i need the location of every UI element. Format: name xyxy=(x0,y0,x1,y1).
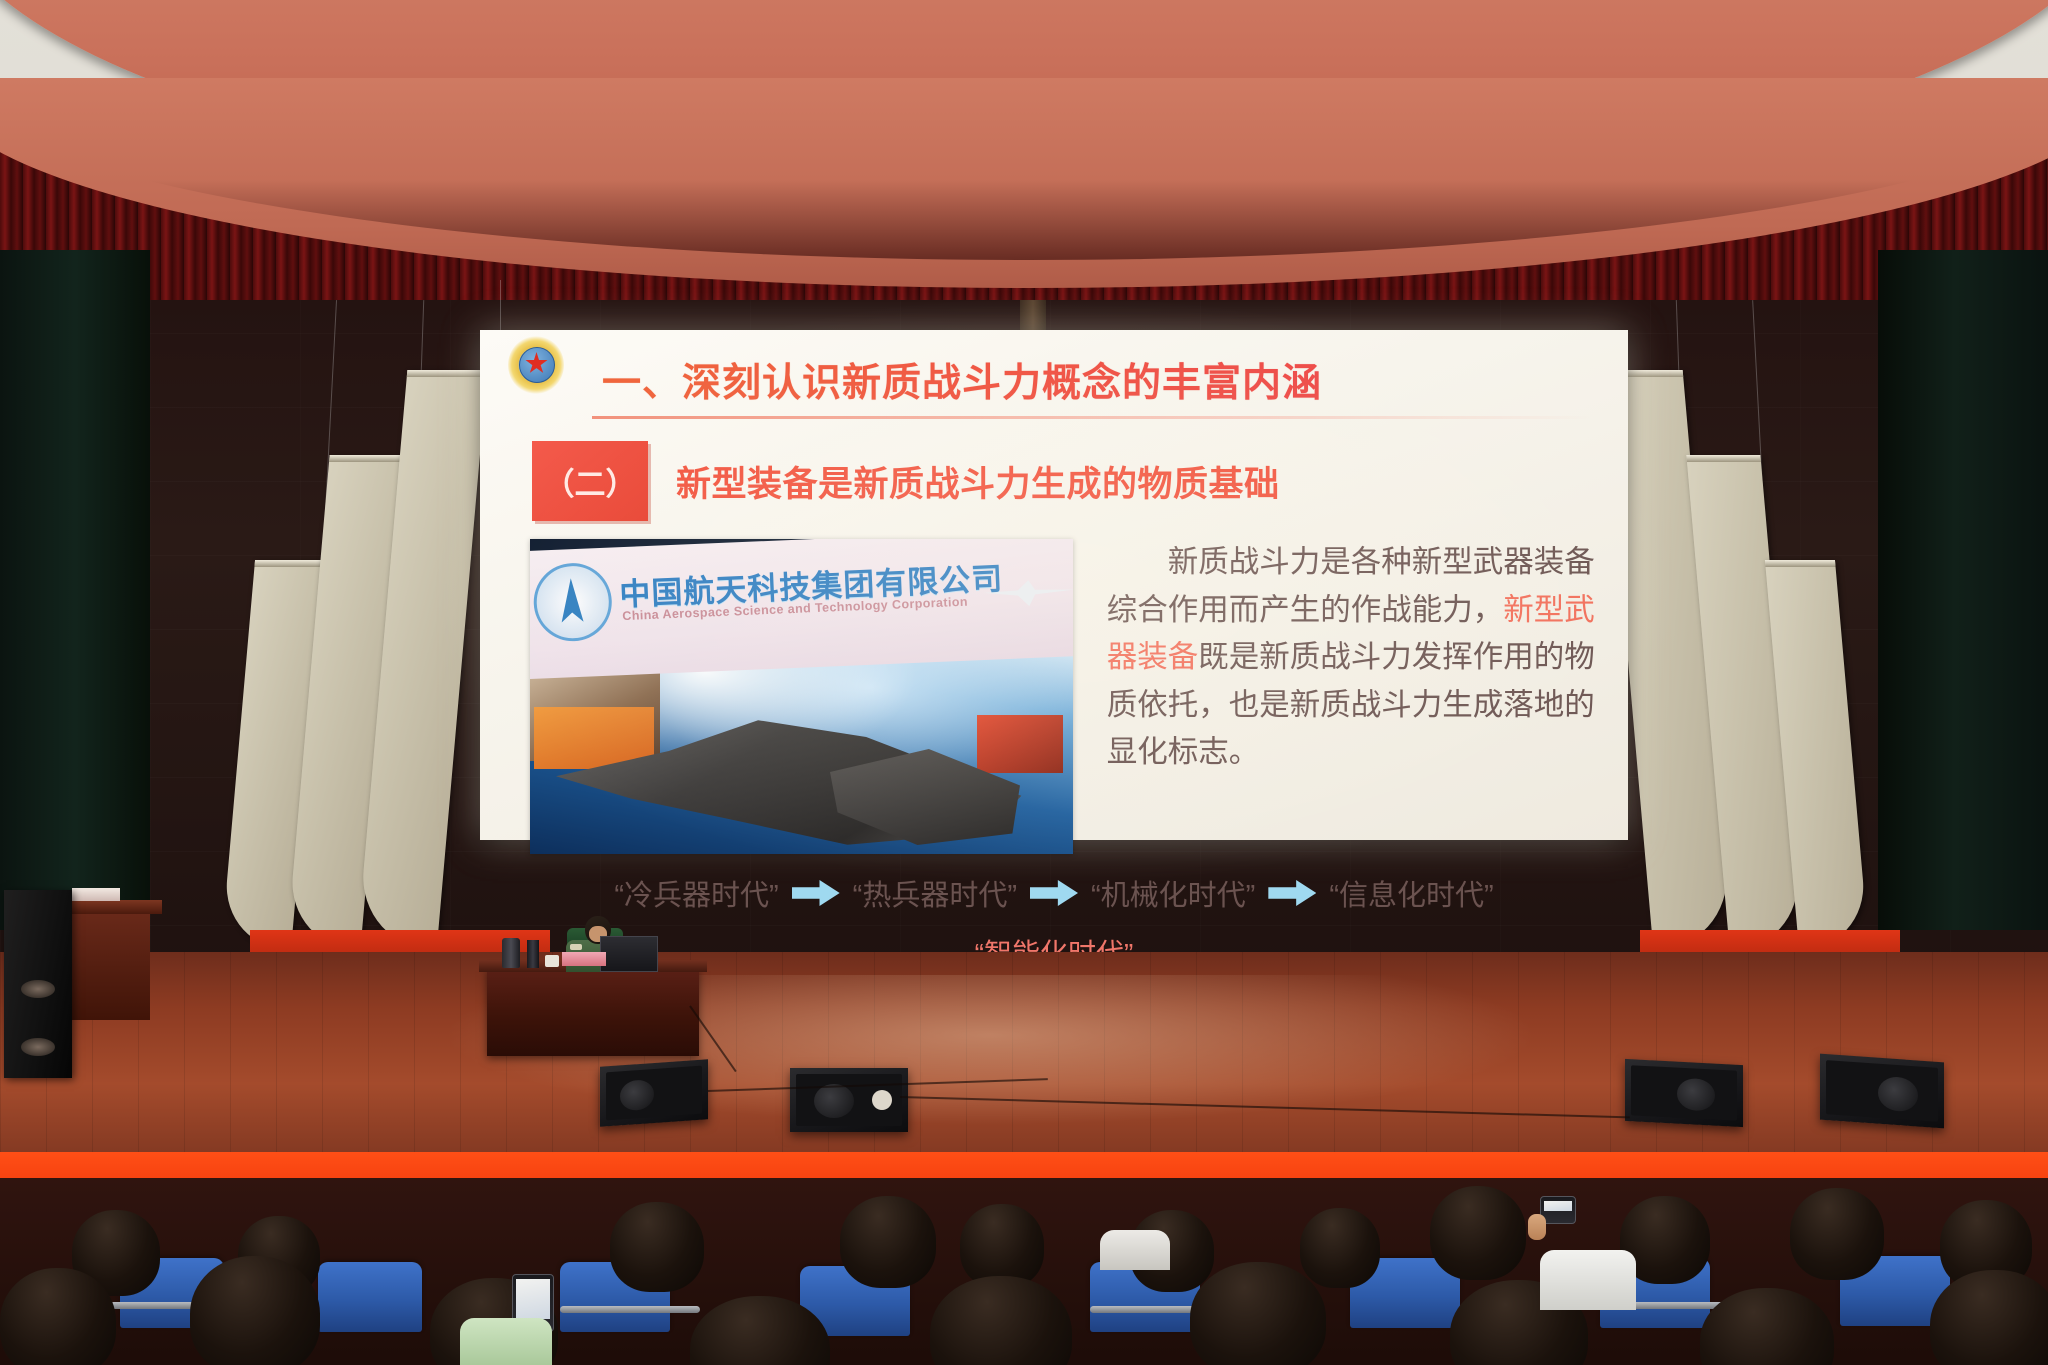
audience-head xyxy=(0,1268,116,1365)
podium-items xyxy=(72,888,120,901)
era-label-3: “信息化时代” xyxy=(1329,872,1493,914)
audience-head xyxy=(840,1196,936,1288)
stage-monitor-speaker xyxy=(600,1059,708,1127)
title-underline xyxy=(592,416,1592,419)
pla-emblem-icon xyxy=(508,336,564,394)
left-stage-wing-curtain xyxy=(0,250,150,930)
arrow-right-icon xyxy=(792,880,840,906)
seat-back-rail xyxy=(560,1306,700,1313)
panel-cap xyxy=(1686,455,1761,462)
theater-seat[interactable] xyxy=(318,1262,422,1332)
audience-head xyxy=(610,1202,704,1292)
section-title: 新型装备是新质战斗力生成的物质基础 xyxy=(676,456,1280,507)
audience-head xyxy=(1430,1186,1526,1280)
uniform-epaulet xyxy=(570,944,582,950)
photo-banner: 中国航天科技集团有限公司 China Aerospace Science and… xyxy=(530,539,1073,680)
era-label-1: “热兵器时代” xyxy=(853,872,1017,914)
presenter-laptop xyxy=(600,936,658,972)
microphone-stand xyxy=(527,940,539,968)
auditorium-scene: 一、深刻认识新质战斗力概念的丰富内涵 （二） 新型装备是新质战斗力生成的物质基础… xyxy=(0,0,2048,1365)
presenter-table xyxy=(487,968,699,1056)
podium xyxy=(60,908,150,1020)
arrow-right-icon xyxy=(1030,880,1078,906)
panel-cap xyxy=(1765,560,1836,567)
era-progression: “冷兵器时代” “热兵器时代” “机械化时代” “信息化时代” xyxy=(506,872,1602,914)
stage-monitor-speaker xyxy=(1820,1054,1944,1129)
audience-shirt xyxy=(460,1318,552,1365)
section-header-row: （二） 新型装备是新质战斗力生成的物质基础 xyxy=(532,441,1602,521)
slide-paragraph: 新质战斗力是各种新型武器装备综合作用而产生的作战能力，新型武器装备既是新质战斗力… xyxy=(1107,539,1602,854)
audience-head xyxy=(1300,1208,1380,1288)
arrow-right-icon xyxy=(1268,880,1316,906)
pa-driver-icon xyxy=(21,1038,55,1056)
slide-body: 中国航天科技集团有限公司 China Aerospace Science and… xyxy=(530,539,1602,854)
stage-monitor-speaker xyxy=(790,1068,908,1132)
tea-cup xyxy=(545,955,559,967)
casc-logo-icon xyxy=(532,562,613,643)
pa-driver-icon xyxy=(21,980,55,998)
audience-head xyxy=(190,1256,320,1365)
audience-head xyxy=(1790,1188,1884,1280)
audience-head xyxy=(1190,1262,1326,1365)
thermos-flask xyxy=(502,938,520,968)
panel-cap xyxy=(329,455,404,462)
slide-title: 一、深刻认识新质战斗力概念的丰富内涵 xyxy=(602,352,1602,408)
presentation-slide: 一、深刻认识新质战斗力概念的丰富内涵 （二） 新型装备是新质战斗力生成的物质基础… xyxy=(480,330,1628,840)
audience-shirt xyxy=(1100,1230,1170,1270)
panel-cap xyxy=(407,370,488,377)
right-stage-wing-curtain xyxy=(1878,250,2048,930)
photo-red-equipment xyxy=(977,715,1063,773)
panel-cap xyxy=(254,560,325,567)
aerospace-exhibition-photo: 中国航天科技集团有限公司 China Aerospace Science and… xyxy=(530,539,1073,854)
section-number-badge: （二） xyxy=(532,441,648,521)
stage-monitor-speaker xyxy=(1625,1059,1743,1127)
projection-screen[interactable]: 一、深刻认识新质战斗力概念的丰富内涵 （二） 新型装备是新质战斗力生成的物质基础… xyxy=(480,330,1628,840)
audience-shirt xyxy=(1540,1250,1636,1310)
hand-holding-phone xyxy=(1528,1214,1546,1240)
era-label-0: “冷兵器时代” xyxy=(614,872,778,914)
era-label-2: “机械化时代” xyxy=(1091,872,1255,914)
name-plate xyxy=(562,952,606,966)
